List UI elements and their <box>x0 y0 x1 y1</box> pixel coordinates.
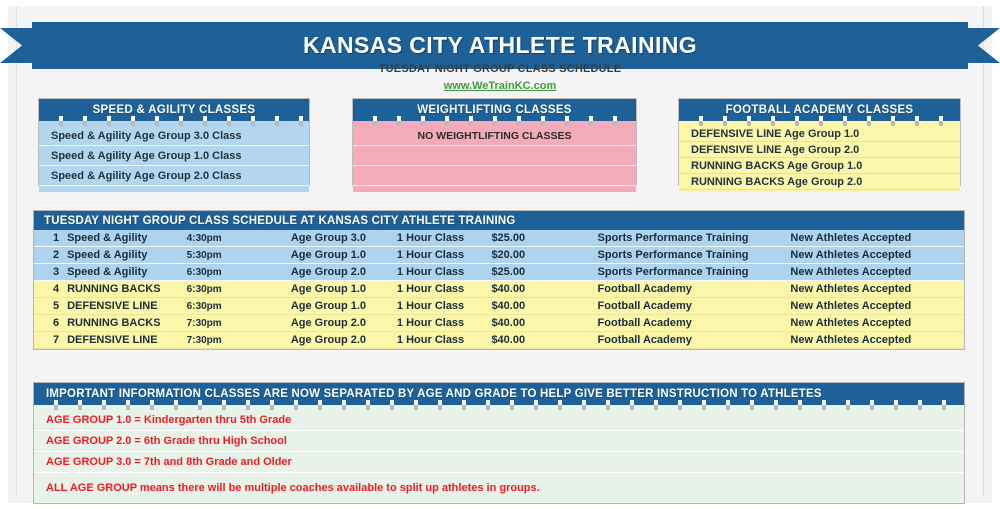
row-status: New Athletes Accepted <box>790 266 964 278</box>
list-item: DEFENSIVE LINE Age Group 2.0 <box>679 142 960 158</box>
card-football-academy: FOOTBALL ACADEMY CLASSES DEFENSIVE LINE … <box>678 98 961 186</box>
row-time: 7:30pm <box>187 318 291 329</box>
row-age: Age Group 2.0 <box>291 266 397 278</box>
website-link[interactable]: www.WeTrainKC.com <box>0 80 1000 92</box>
list-item: AGE GROUP 2.0 = 6th Grade thru High Scho… <box>34 431 964 452</box>
row-number: 7 <box>34 334 59 346</box>
row-class: Speed & Agility <box>59 232 187 244</box>
row-class: DEFENSIVE LINE <box>59 300 187 312</box>
row-time: 7:30pm <box>187 335 291 346</box>
row-price: $25.00 <box>491 232 597 244</box>
schedule-table-title: TUESDAY NIGHT GROUP CLASS SCHEDULE AT KA… <box>44 215 516 227</box>
row-age: Age Group 2.0 <box>291 334 397 346</box>
row-age: Age Group 3.0 <box>291 232 397 244</box>
row-age: Age Group 1.0 <box>291 249 397 261</box>
row-program: Sports Performance Training <box>598 249 791 261</box>
row-length: 1 Hour Class <box>397 334 492 346</box>
row-class: RUNNING BACKS <box>59 283 187 295</box>
row-status: New Athletes Accepted <box>790 283 964 295</box>
binding-dots-icon <box>39 121 309 126</box>
list-item: Speed & Agility Age Group 2.0 Class <box>39 166 309 186</box>
list-item <box>353 166 636 186</box>
list-item <box>353 186 636 206</box>
row-time: 6:30pm <box>187 301 291 312</box>
row-length: 1 Hour Class <box>397 266 492 278</box>
binding-dots-icon <box>353 121 636 126</box>
row-number: 1 <box>34 232 59 244</box>
ribbon-banner: KANSAS CITY ATHLETE TRAINING <box>32 22 968 69</box>
card-football-academy-header: FOOTBALL ACADEMY CLASSES <box>679 99 960 121</box>
row-price: $40.00 <box>491 300 597 312</box>
row-number: 6 <box>34 317 59 329</box>
card-weightlifting: WEIGHTLIFTING CLASSES NO WEIGHTLIFTING C… <box>352 98 637 186</box>
page-subtitle: TUESDAY NIGHT GROUP CLASS SCHEDULE <box>0 63 1000 75</box>
card-speed-agility-title: SPEED & AGILITY CLASSES <box>93 104 256 116</box>
card-football-academy-body: DEFENSIVE LINE Age Group 1.0 DEFENSIVE L… <box>679 126 960 192</box>
row-age: Age Group 2.0 <box>291 317 397 329</box>
list-item: Speed & Agility Age Group 1.0 Class <box>39 146 309 166</box>
schedule-flyer: KANSAS CITY ATHLETE TRAINING TUESDAY NIG… <box>0 0 1000 509</box>
schedule-table-body: 1 Speed & Agility 4:30pm Age Group 3.0 1… <box>34 230 964 349</box>
row-price: $25.00 <box>491 266 597 278</box>
row-status: New Athletes Accepted <box>790 334 964 346</box>
card-weightlifting-body: NO WEIGHTLIFTING CLASSES <box>353 126 636 192</box>
list-item <box>39 186 309 206</box>
row-program: Football Academy <box>598 300 791 312</box>
table-row: 5 DEFENSIVE LINE 6:30pm Age Group 1.0 1 … <box>34 298 964 315</box>
row-program: Football Academy <box>598 317 791 329</box>
list-item <box>353 146 636 166</box>
important-information-title: IMPORTANT INFORMATION CLASSES ARE NOW SE… <box>46 388 822 400</box>
title-ribbon: KANSAS CITY ATHLETE TRAINING <box>0 22 1000 69</box>
row-time: 5:30pm <box>187 250 291 261</box>
schedule-table-header: TUESDAY NIGHT GROUP CLASS SCHEDULE AT KA… <box>34 211 964 230</box>
row-price: $40.00 <box>491 334 597 346</box>
row-length: 1 Hour Class <box>397 232 492 244</box>
list-item: Speed & Agility Age Group 3.0 Class <box>39 126 309 146</box>
row-class: RUNNING BACKS <box>59 317 187 329</box>
table-row: 4 RUNNING BACKS 6:30pm Age Group 1.0 1 H… <box>34 281 964 298</box>
row-number: 2 <box>34 249 59 261</box>
row-status: New Athletes Accepted <box>790 317 964 329</box>
row-status: New Athletes Accepted <box>790 300 964 312</box>
row-length: 1 Hour Class <box>397 300 492 312</box>
important-information-header: IMPORTANT INFORMATION CLASSES ARE NOW SE… <box>34 383 964 405</box>
table-row: 6 RUNNING BACKS 7:30pm Age Group 2.0 1 H… <box>34 315 964 332</box>
row-class: Speed & Agility <box>59 266 187 278</box>
schedule-table: TUESDAY NIGHT GROUP CLASS SCHEDULE AT KA… <box>33 210 965 350</box>
row-time: 6:30pm <box>187 267 291 278</box>
row-number: 3 <box>34 266 59 278</box>
row-number: 5 <box>34 300 59 312</box>
row-class: Speed & Agility <box>59 249 187 261</box>
important-information-box: IMPORTANT INFORMATION CLASSES ARE NOW SE… <box>33 382 965 504</box>
important-information-body: AGE GROUP 1.0 = Kindergarten thru 5th Gr… <box>34 410 964 503</box>
binding-dots-icon <box>34 405 964 410</box>
card-weightlifting-header: WEIGHTLIFTING CLASSES <box>353 99 636 121</box>
row-age: Age Group 1.0 <box>291 283 397 295</box>
row-program: Football Academy <box>598 334 791 346</box>
row-price: $20.00 <box>491 249 597 261</box>
table-row: 2 Speed & Agility 5:30pm Age Group 1.0 1… <box>34 247 964 264</box>
binding-dots-icon <box>679 121 960 126</box>
table-row: 7 DEFENSIVE LINE 7:30pm Age Group 2.0 1 … <box>34 332 964 349</box>
table-row: 3 Speed & Agility 6:30pm Age Group 2.0 1… <box>34 264 964 281</box>
list-item: AGE GROUP 3.0 = 7th and 8th Grade and Ol… <box>34 452 964 473</box>
row-time: 6:30pm <box>187 284 291 295</box>
table-row: 1 Speed & Agility 4:30pm Age Group 3.0 1… <box>34 230 964 247</box>
row-class: DEFENSIVE LINE <box>59 334 187 346</box>
list-item: RUNNING BACKS Age Group 2.0 <box>679 174 960 190</box>
row-status: New Athletes Accepted <box>790 249 964 261</box>
list-item: ALL AGE GROUP means there will be multip… <box>34 473 964 503</box>
list-item: AGE GROUP 1.0 = Kindergarten thru 5th Gr… <box>34 410 964 431</box>
row-age: Age Group 1.0 <box>291 300 397 312</box>
row-status: New Athletes Accepted <box>790 232 964 244</box>
card-speed-agility-header: SPEED & AGILITY CLASSES <box>39 99 309 121</box>
row-program: Football Academy <box>598 283 791 295</box>
row-program: Sports Performance Training <box>598 232 791 244</box>
row-time: 4:30pm <box>187 233 291 244</box>
card-speed-agility-body: Speed & Agility Age Group 3.0 Class Spee… <box>39 126 309 192</box>
list-item: RUNNING BACKS Age Group 1.0 <box>679 158 960 174</box>
row-number: 4 <box>34 283 59 295</box>
row-length: 1 Hour Class <box>397 249 492 261</box>
row-length: 1 Hour Class <box>397 317 492 329</box>
card-weightlifting-title: WEIGHTLIFTING CLASSES <box>417 104 572 116</box>
card-speed-agility: SPEED & AGILITY CLASSES Speed & Agility … <box>38 98 310 186</box>
card-football-academy-title: FOOTBALL ACADEMY CLASSES <box>726 104 914 116</box>
row-length: 1 Hour Class <box>397 283 492 295</box>
row-program: Sports Performance Training <box>598 266 791 278</box>
list-item: NO WEIGHTLIFTING CLASSES <box>353 126 636 146</box>
list-item: DEFENSIVE LINE Age Group 1.0 <box>679 126 960 142</box>
page-title: KANSAS CITY ATHLETE TRAINING <box>303 32 697 59</box>
row-price: $40.00 <box>491 317 597 329</box>
row-price: $40.00 <box>491 283 597 295</box>
